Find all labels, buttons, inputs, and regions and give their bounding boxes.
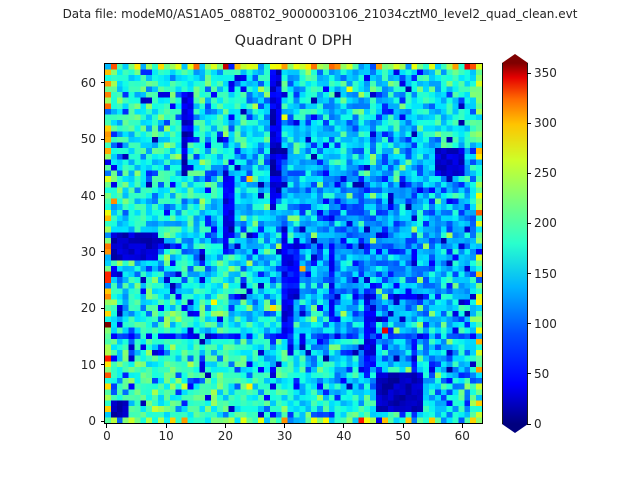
ytick-label: 20 — [52, 301, 96, 315]
xtick-label: 50 — [395, 429, 410, 443]
heatmap-image — [105, 64, 482, 423]
ytick-label: 30 — [52, 245, 96, 259]
colorbar-tick-mark — [527, 173, 531, 174]
colorbar-tick-label: 100 — [534, 317, 557, 331]
ytick-mark — [101, 421, 105, 422]
xtick-mark — [403, 424, 404, 428]
page-title: Quadrant 0 DPH — [104, 33, 483, 49]
xtick-mark — [343, 424, 344, 428]
colorbar-tick-mark — [527, 373, 531, 374]
colorbar-under-arrow-icon — [502, 424, 528, 433]
colorbar-tick-mark — [527, 73, 531, 74]
xtick-label: 60 — [455, 429, 470, 443]
xtick-label: 0 — [103, 429, 111, 443]
xtick-label: 10 — [159, 429, 174, 443]
colorbar-tick-mark — [527, 123, 531, 124]
xtick-label: 30 — [277, 429, 292, 443]
colorbar-tick-mark — [527, 223, 531, 224]
colorbar-tick-label: 300 — [534, 116, 557, 130]
ytick-label: 40 — [52, 189, 96, 203]
ytick-mark — [101, 364, 105, 365]
ytick-mark — [101, 82, 105, 83]
colorbar — [502, 63, 528, 424]
figure-suptitle: Data file: modeM0/AS1A05_088T02_90000031… — [0, 7, 640, 21]
xtick-mark — [462, 424, 463, 428]
colorbar-over-arrow-icon — [502, 54, 528, 63]
colorbar-gradient — [502, 63, 528, 424]
colorbar-tick-label: 0 — [534, 417, 542, 431]
ytick-label: 60 — [52, 76, 96, 90]
colorbar-tick-label: 200 — [534, 216, 557, 230]
xtick-mark — [225, 424, 226, 428]
ytick-mark — [101, 251, 105, 252]
ytick-label: 50 — [52, 132, 96, 146]
xtick-mark — [284, 424, 285, 428]
ytick-mark — [101, 308, 105, 309]
colorbar-tick-label: 250 — [534, 166, 557, 180]
ytick-label: 0 — [52, 414, 96, 428]
colorbar-tick-mark — [527, 424, 531, 425]
colorbar-tick-mark — [527, 273, 531, 274]
xtick-label: 20 — [218, 429, 233, 443]
heatmap-axes — [104, 63, 483, 424]
colorbar-tick-label: 150 — [534, 267, 557, 281]
colorbar-tick-label: 350 — [534, 66, 557, 80]
ytick-mark — [101, 139, 105, 140]
ytick-mark — [101, 195, 105, 196]
xtick-mark — [166, 424, 167, 428]
colorbar-tick-label: 50 — [534, 367, 549, 381]
colorbar-tick-mark — [527, 323, 531, 324]
xtick-label: 40 — [336, 429, 351, 443]
ytick-label: 10 — [52, 358, 96, 372]
xtick-mark — [106, 424, 107, 428]
